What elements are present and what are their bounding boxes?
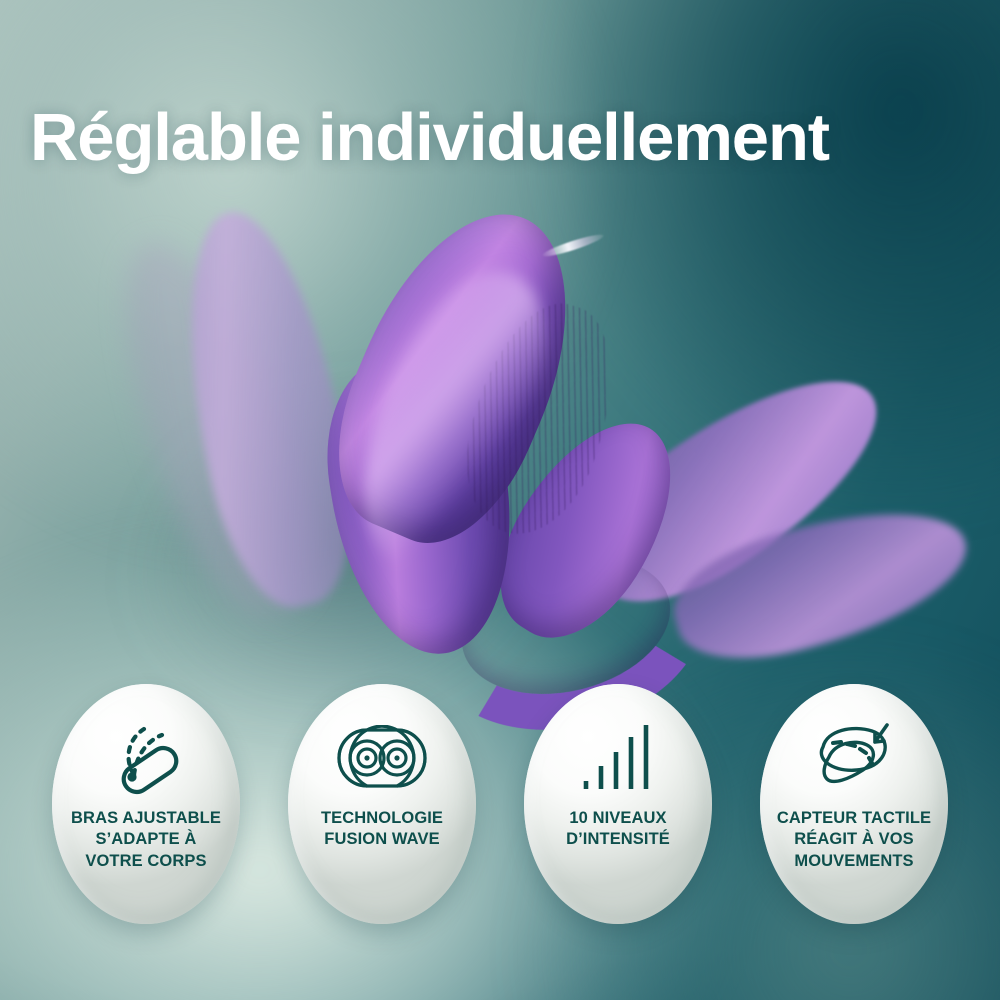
marketing-image: Réglable individuellement bbox=[0, 0, 1000, 1000]
feature-badge-fusion-wave[interactable]: TECHNOLOGIE FUSION WAVE bbox=[288, 684, 476, 924]
page-title: Réglable individuellement bbox=[30, 104, 976, 171]
badge-line: VOTRE CORPS bbox=[71, 851, 221, 872]
feature-badge-touch-sensor[interactable]: CAPTEUR TACTILE RÉAGIT À VOS MOUVEMENTS bbox=[760, 684, 948, 924]
feature-badge-label: TECHNOLOGIE FUSION WAVE bbox=[315, 808, 449, 851]
badge-line: MOUVEMENTS bbox=[777, 851, 931, 872]
feature-badge-intensity-levels[interactable]: 10 NIVEAUX D’INTENSITÉ bbox=[524, 684, 712, 924]
badge-line: 10 NIVEAUX bbox=[566, 808, 670, 829]
feature-badge-adjustable-arm[interactable]: BRAS AJUSTABLE S’ADAPTE À VOTRE CORPS bbox=[52, 684, 240, 924]
badge-line: BRAS AJUSTABLE bbox=[71, 808, 221, 829]
product-image bbox=[0, 175, 1000, 695]
feature-badge-label: CAPTEUR TACTILE RÉAGIT À VOS MOUVEMENTS bbox=[771, 808, 937, 872]
fusion-wave-icon bbox=[336, 716, 428, 800]
badge-line: CAPTEUR TACTILE bbox=[777, 808, 931, 829]
feature-badge-label: BRAS AJUSTABLE S’ADAPTE À VOTRE CORPS bbox=[65, 808, 227, 872]
badge-line: S’ADAPTE À bbox=[71, 829, 221, 850]
intensity-bars-icon bbox=[579, 716, 657, 800]
feature-badge-label: 10 NIVEAUX D’INTENSITÉ bbox=[560, 808, 676, 851]
badge-line: TECHNOLOGIE bbox=[321, 808, 443, 829]
adjustable-arm-icon bbox=[106, 716, 186, 800]
badge-line: RÉAGIT À VOS bbox=[777, 829, 931, 850]
feature-badge-list: BRAS AJUSTABLE S’ADAPTE À VOTRE CORPS bbox=[0, 684, 1000, 926]
badge-line: D’INTENSITÉ bbox=[566, 829, 670, 850]
product-main-body bbox=[326, 205, 656, 657]
touch-sensor-icon bbox=[809, 716, 899, 800]
badge-line: FUSION WAVE bbox=[321, 829, 443, 850]
